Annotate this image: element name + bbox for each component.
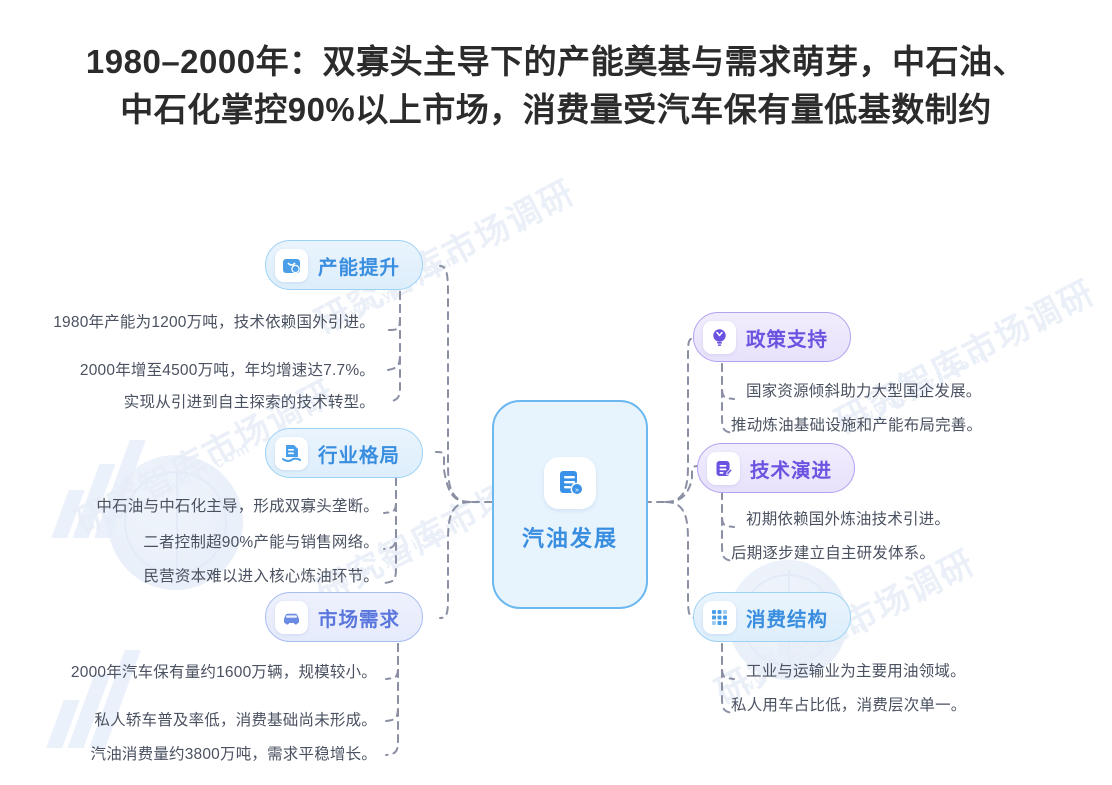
svg-text:»: » (575, 487, 579, 494)
page-title-line2: 中石化掌控90%以上市场，消费量受汽车保有量低基数制约 (0, 86, 1112, 134)
branch-node-demand-label: 市场需求 (318, 603, 400, 632)
car-icon (275, 601, 308, 634)
leaf-tech-2: 后期逐步建立自主研发体系。 (731, 541, 935, 563)
wire-center-to-tech (666, 466, 700, 502)
mindmap-canvas: 研究智库市场调研 www.yozi.com 研究智库市场调研 www.yozi.… (0, 0, 1112, 785)
leaf-industry-2: 二者控制超90%产能与销售网络。 (143, 530, 379, 552)
wire-capacity-leaf3 (388, 292, 400, 402)
grid-blocks-icon (703, 601, 736, 634)
wire-center-to-demand (440, 502, 470, 618)
branch-node-industry-label: 行业格局 (318, 439, 400, 468)
wire-demand-leaf2 (386, 644, 398, 721)
leaf-policy-1: 国家资源倾斜助力大型国企发展。 (746, 379, 982, 401)
wire-center-to-policy (666, 338, 696, 502)
wire-center-to-capacity (440, 266, 470, 502)
watermark-bars (55, 640, 175, 750)
branch-node-demand[interactable]: 市场需求 (265, 592, 423, 642)
leaf-capacity-3: 实现从引进到自主探索的技术转型。 (124, 390, 375, 412)
leaf-consumption-1: 工业与运输业为主要用油领域。 (746, 659, 966, 681)
wire-industry-leaf3 (384, 478, 396, 583)
wire-demand-leaf3 (386, 644, 398, 755)
branch-node-industry[interactable]: 行业格局 (265, 428, 423, 478)
center-node[interactable]: » 汽油发展 (492, 400, 648, 609)
wire-consumption-leaf1 (722, 644, 734, 679)
industry-hand-doc-icon (275, 437, 308, 470)
document-edit-icon (707, 452, 740, 485)
branch-node-tech[interactable]: 技术演进 (697, 443, 855, 493)
leaf-consumption-2: 私人用车占比低，消费层次单一。 (731, 693, 967, 715)
branch-node-policy-label: 政策支持 (746, 323, 828, 352)
page-title: 1980–2000年：双寡头主导下的产能奠基与需求萌芽，中石油、 中石化掌控90… (0, 38, 1112, 134)
leaf-industry-1: 中石油与中石化主导，形成双寡头垄断。 (96, 494, 379, 516)
branch-node-capacity[interactable]: 产能提升 (265, 240, 423, 290)
leaf-industry-3: 民营资本难以进入核心炼油环节。 (143, 564, 379, 586)
branch-node-capacity-label: 产能提升 (318, 251, 400, 280)
leaf-capacity-1: 1980年产能为1200万吨，技术依赖国外引进。 (53, 310, 375, 332)
wire-demand-leaf1 (386, 644, 398, 679)
branch-node-consumption-label: 消费结构 (746, 603, 828, 632)
wire-industry-leaf2 (384, 478, 396, 549)
branch-node-tech-label: 技术演进 (750, 454, 832, 483)
leaf-demand-2: 私人轿车普及率低，消费基础尚未形成。 (94, 708, 377, 730)
capacity-bag-icon (275, 249, 308, 282)
wire-industry-leaf1 (384, 478, 396, 513)
leaf-policy-2: 推动炼油基础设施和产能布局完善。 (731, 413, 982, 435)
leaf-tech-1: 初期依赖国外炼油技术引进。 (746, 507, 950, 529)
leaf-demand-1: 2000年汽车保有量约1600万辆，规模较小。 (71, 660, 377, 682)
page-title-line1: 1980–2000年：双寡头主导下的产能奠基与需求萌芽，中石油、 (0, 38, 1112, 86)
wire-capacity-leaf2 (388, 292, 400, 370)
center-node-label: 汽油发展 (522, 521, 618, 553)
leaf-demand-3: 汽油消费量约3800万吨，需求平稳增长。 (91, 742, 377, 764)
branch-node-consumption[interactable]: 消费结构 (693, 592, 851, 642)
wire-policy-leaf1 (722, 364, 734, 399)
wire-center-to-industry (436, 452, 470, 502)
branch-node-policy[interactable]: 政策支持 (693, 312, 851, 362)
leaf-capacity-2: 2000年增至4500万吨，年均增速达7.7%。 (80, 358, 375, 380)
lightbulb-icon (703, 321, 736, 354)
wire-tech-leaf1 (722, 492, 734, 527)
watermark-bars (60, 430, 180, 540)
wire-capacity-leaf1 (388, 292, 400, 330)
document-chat-icon: » (544, 457, 596, 509)
wire-center-to-consumption (666, 502, 696, 618)
